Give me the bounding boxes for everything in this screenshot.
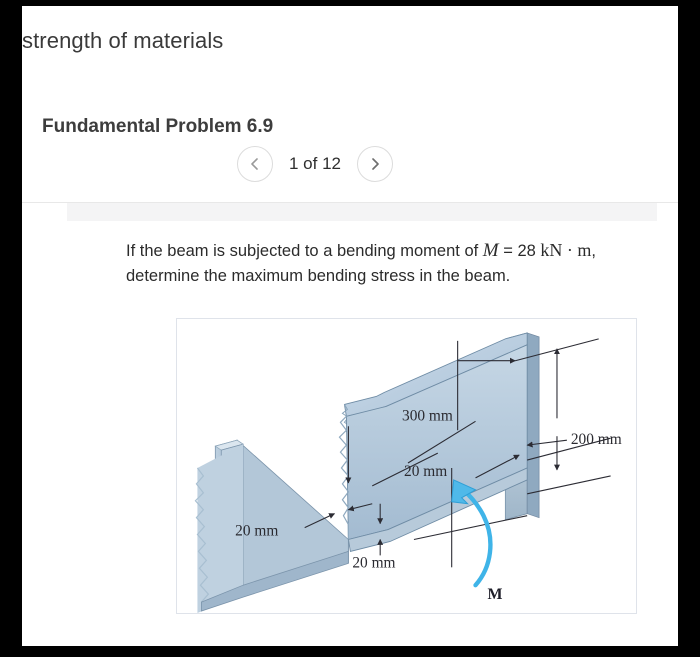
next-page-button[interactable] <box>357 146 393 182</box>
screenshot-frame: strength of materials Fundamental Proble… <box>0 0 700 657</box>
pager: 1 of 12 <box>237 146 393 182</box>
dim-label-20-left-flange: 20 mm <box>235 523 278 540</box>
statement-text-lead: If the beam is subjected to a bending mo… <box>126 242 483 260</box>
page-card: strength of materials Fundamental Proble… <box>22 6 678 646</box>
far-flange-outer <box>527 333 539 518</box>
moment-label: M <box>487 586 502 603</box>
dim-label-300: 300 mm <box>402 407 453 424</box>
pager-position-label: 1 of 12 <box>287 154 343 174</box>
chevron-right-icon <box>368 157 382 171</box>
dim-label-200: 200 mm <box>571 431 622 448</box>
prev-page-button[interactable] <box>237 146 273 182</box>
statement-equals: = <box>499 242 518 260</box>
problem-heading: Fundamental Problem 6.9 <box>42 116 273 138</box>
content-band <box>67 203 657 221</box>
dim-label-20-web: 20 mm <box>404 463 447 480</box>
beam-figure: 300 mm 20 mm 200 mm 20 mm 20 mm M <box>176 318 637 614</box>
chevron-left-icon <box>248 157 262 171</box>
moment-value: 28 <box>517 242 535 260</box>
problem-statement: If the beam is subjected to a bending mo… <box>126 238 646 289</box>
moment-units: kN · m <box>540 240 591 260</box>
page-title: strength of materials <box>22 28 223 54</box>
dim-200-ext-bottom <box>527 476 610 494</box>
moment-symbol: M <box>483 240 499 261</box>
dim-label-20-bottom-flange: 20 mm <box>352 554 395 571</box>
